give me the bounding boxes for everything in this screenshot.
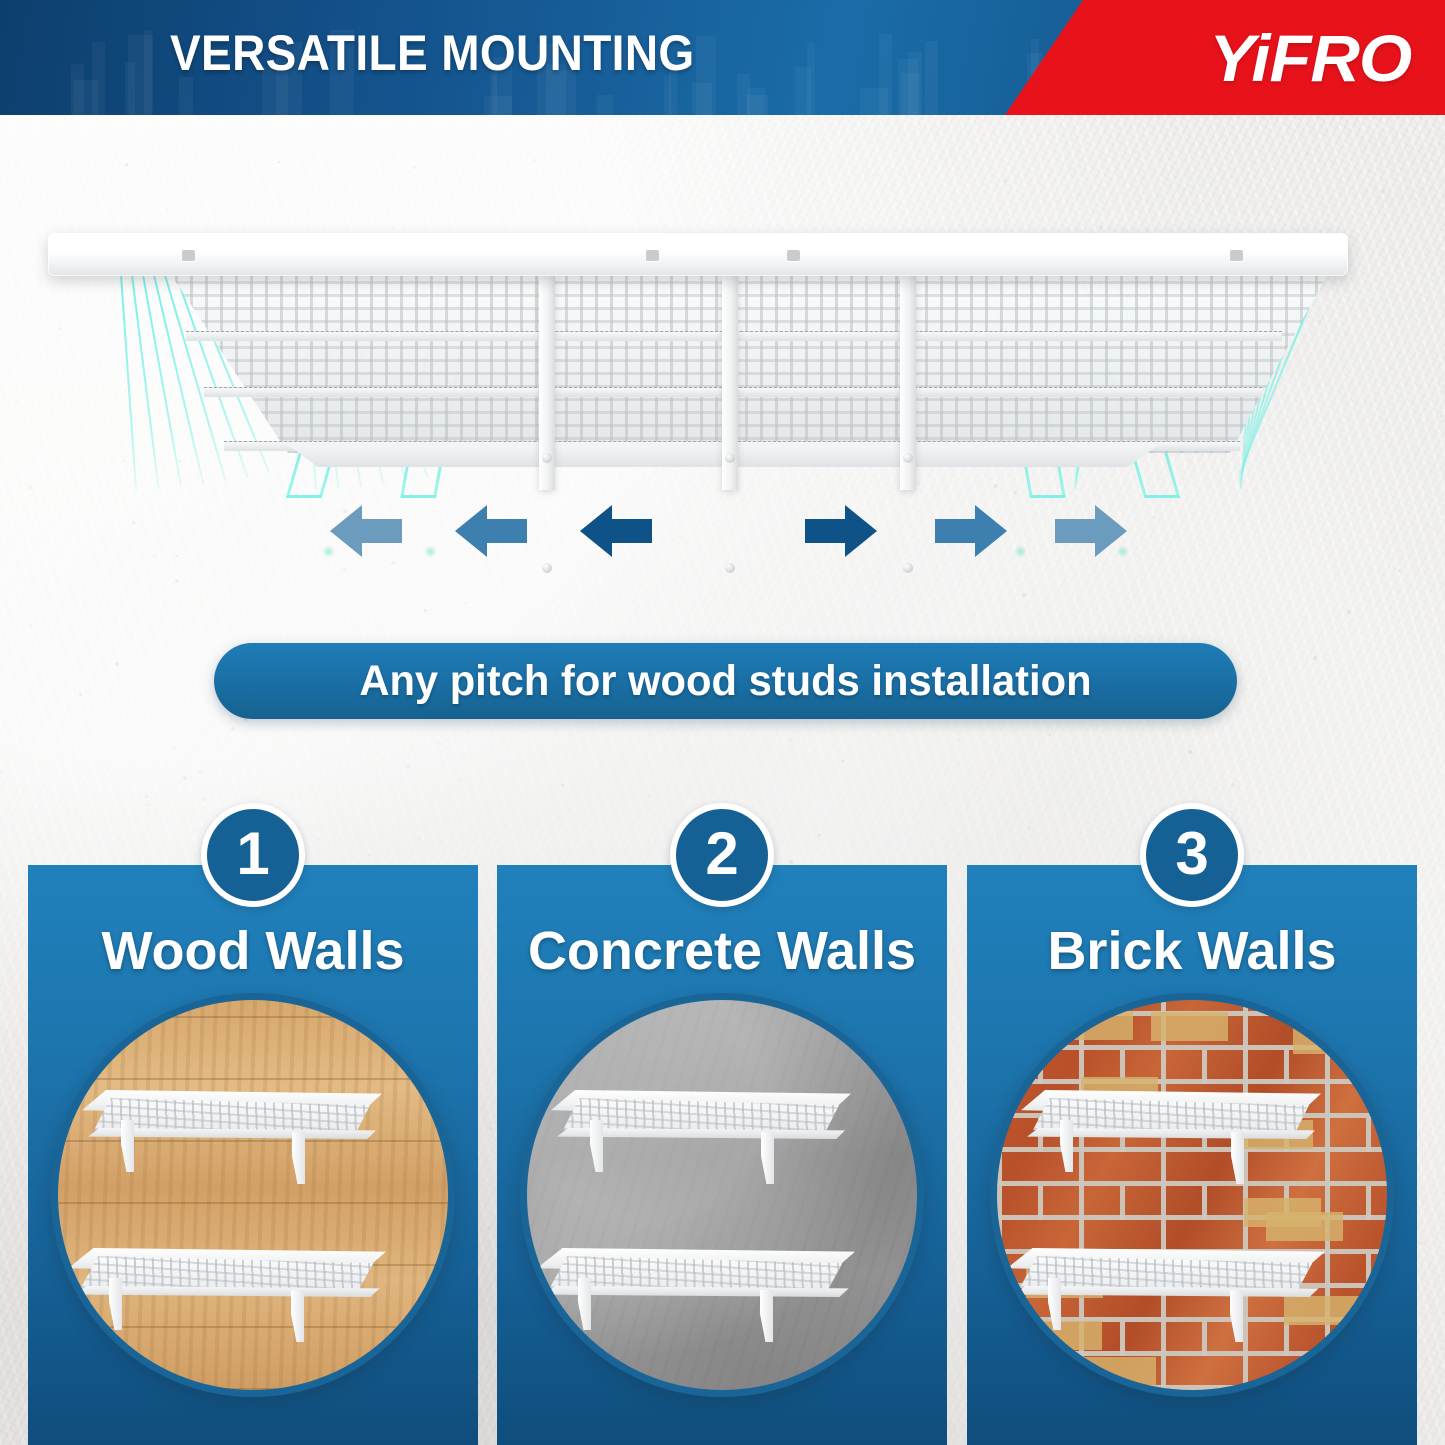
brick-accent xyxy=(1293,1025,1370,1054)
wall-mounting-rail xyxy=(48,233,1348,276)
arrow-shaft xyxy=(1055,519,1097,543)
mini-shelf xyxy=(68,1248,386,1318)
mini-shelf xyxy=(1007,1248,1325,1318)
arrow-left xyxy=(330,505,402,557)
mini-shelf xyxy=(537,1248,855,1318)
arrow-shaft xyxy=(610,519,652,543)
ghost-foot xyxy=(1143,495,1180,498)
card-photo-concrete xyxy=(520,993,924,1397)
bracket-screw-icon xyxy=(903,563,913,573)
arrow-shaft xyxy=(485,519,527,543)
arrow-head xyxy=(580,505,612,557)
wall-texture-concrete xyxy=(527,1000,917,1390)
caption-text: Any pitch for wood studs installation xyxy=(359,657,1091,706)
brick-accent xyxy=(1151,1012,1228,1041)
mini-shelf-bracket xyxy=(292,1132,305,1184)
wall-texture-brick xyxy=(997,1000,1387,1390)
bracket-screw-icon xyxy=(542,453,552,463)
shelf-bracket xyxy=(539,275,555,490)
arrow-left xyxy=(455,505,527,557)
arrow-left xyxy=(580,505,652,557)
card-number-badge: 3 xyxy=(1140,803,1244,907)
card-number-badge: 1 xyxy=(201,803,305,907)
mini-shelf xyxy=(82,1090,382,1160)
arrow-head xyxy=(330,505,362,557)
card-title: Wood Walls xyxy=(28,920,478,982)
card-number-badge: 2 xyxy=(670,803,774,907)
rail-hole-icon xyxy=(182,250,195,261)
card-photo-brick xyxy=(990,993,1394,1397)
ghost-anchor-dot xyxy=(424,545,437,558)
rail-hole-icon xyxy=(787,250,800,261)
brick-accent xyxy=(1079,1357,1156,1386)
shelf-bracket xyxy=(900,275,916,490)
caption-pill: Any pitch for wood studs installation xyxy=(214,643,1237,719)
hero-illustration xyxy=(0,115,1445,620)
page-title: VERSATILE MOUNTING xyxy=(170,24,695,82)
card-number: 3 xyxy=(1175,824,1208,884)
ghost-foot xyxy=(286,495,323,498)
mini-shelf xyxy=(551,1090,851,1160)
arrow-right xyxy=(805,505,877,557)
brick-accent xyxy=(1056,1011,1133,1040)
wall-card-wood[interactable]: Wood Walls1 xyxy=(28,865,478,1445)
mini-shelf-bracket xyxy=(109,1278,122,1330)
bracket-screw-icon xyxy=(542,563,552,573)
arrow-shaft xyxy=(360,519,402,543)
brand-logo-text: YiFRO xyxy=(1209,21,1411,95)
card-number: 1 xyxy=(236,824,269,884)
bracket-screw-icon xyxy=(725,563,735,573)
mini-shelf-bracket xyxy=(761,1132,774,1184)
shelf-bracket xyxy=(722,275,738,490)
arrow-head xyxy=(1095,505,1127,557)
brand-logo: YiFRO xyxy=(1209,20,1411,96)
brick-accent xyxy=(1025,1321,1102,1350)
arrow-head xyxy=(455,505,487,557)
bracket-screw-icon xyxy=(725,453,735,463)
ghost-sweep-line xyxy=(131,275,160,489)
mini-shelf-bracket xyxy=(578,1278,591,1330)
ghost-anchor-dot xyxy=(1014,545,1027,558)
arrow-head xyxy=(845,505,877,557)
mini-shelf-bracket xyxy=(291,1290,304,1342)
ghost-foot xyxy=(1029,495,1066,498)
wall-texture-wood xyxy=(58,1000,448,1390)
ghost-foot xyxy=(400,495,437,498)
rail-hole-icon xyxy=(646,250,659,261)
wall-card-concrete[interactable]: Concrete Walls2 xyxy=(497,865,947,1445)
infographic-page: VERSATILE MOUNTING YiFRO Any pitch for w… xyxy=(0,0,1445,1445)
brick-accent xyxy=(1244,1198,1321,1227)
mini-shelf xyxy=(1021,1090,1321,1160)
wall-card-brick[interactable]: Brick Walls3 xyxy=(967,865,1417,1445)
mini-shelf-bracket xyxy=(760,1290,773,1342)
card-number: 2 xyxy=(705,824,738,884)
mini-shelf-bracket xyxy=(590,1120,603,1172)
arrow-shaft xyxy=(805,519,847,543)
arrow-right xyxy=(935,505,1007,557)
card-photo-wood xyxy=(51,993,455,1397)
card-title: Brick Walls xyxy=(967,920,1417,982)
arrow-right xyxy=(1055,505,1127,557)
rail-hole-icon xyxy=(1230,250,1243,261)
arrow-shaft xyxy=(935,519,977,543)
mini-shelf-bracket xyxy=(121,1120,134,1172)
bracket-screw-icon xyxy=(903,453,913,463)
card-title: Concrete Walls xyxy=(497,920,947,982)
header-banner: VERSATILE MOUNTING YiFRO xyxy=(0,0,1445,115)
arrow-head xyxy=(975,505,1007,557)
